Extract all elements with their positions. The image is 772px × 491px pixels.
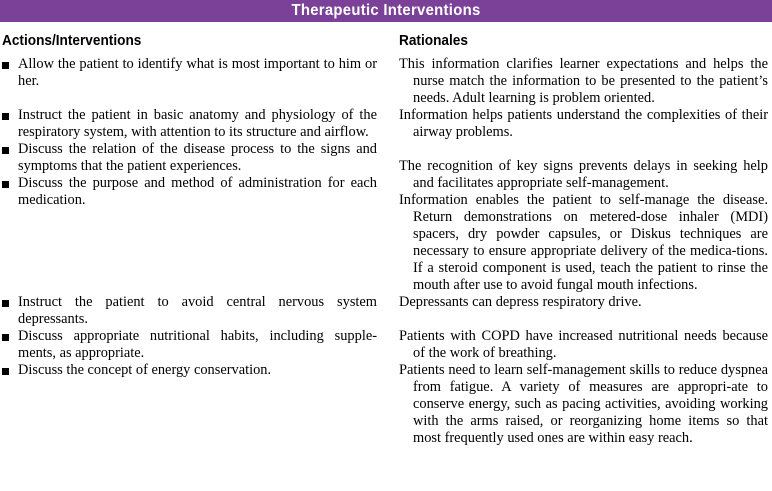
page-title: Therapeutic Interventions [15, 0, 756, 22]
actions-list: Allow the patient to identify what is mo… [2, 56, 377, 379]
rationale-item: Information helps patients understand th… [399, 107, 768, 141]
rationale-item: This information clarifies learner expec… [399, 56, 768, 107]
actions-column: Actions/Interventions Allow the patient … [2, 22, 377, 379]
action-item: Discuss the purpose and method of admini… [2, 175, 377, 209]
rationale-item: Information enables the patient to self-… [399, 192, 768, 294]
action-item: Discuss the relation of the disease proc… [2, 141, 377, 175]
rationales-list: This information clarifies learner expec… [399, 56, 768, 447]
page-banner: Therapeutic Interventions [0, 0, 772, 22]
action-item: Discuss appropriate nutritional habits, … [2, 328, 377, 362]
actions-column-heading: Actions/Interventions [2, 33, 355, 50]
rationale-item: Depressants can depress respiratory driv… [399, 294, 768, 311]
action-item: Instruct the patient to avoid central ne… [2, 294, 377, 328]
rationales-column: Rationales This information clarifies le… [399, 22, 768, 447]
rationales-column-heading: Rationales [399, 33, 746, 50]
action-item: Instruct the patient in basic anatomy an… [2, 107, 377, 141]
two-column-table: Actions/Interventions Allow the patient … [0, 22, 772, 491]
action-item: Allow the patient to identify what is mo… [2, 56, 377, 90]
action-item: Discuss the concept of energy conservati… [2, 362, 377, 379]
rationale-item: Patients need to learn self-management s… [399, 362, 768, 447]
rationale-item: Patients with COPD have increased nutrit… [399, 328, 768, 362]
rationale-item: The recognition of key signs prevents de… [399, 158, 768, 192]
